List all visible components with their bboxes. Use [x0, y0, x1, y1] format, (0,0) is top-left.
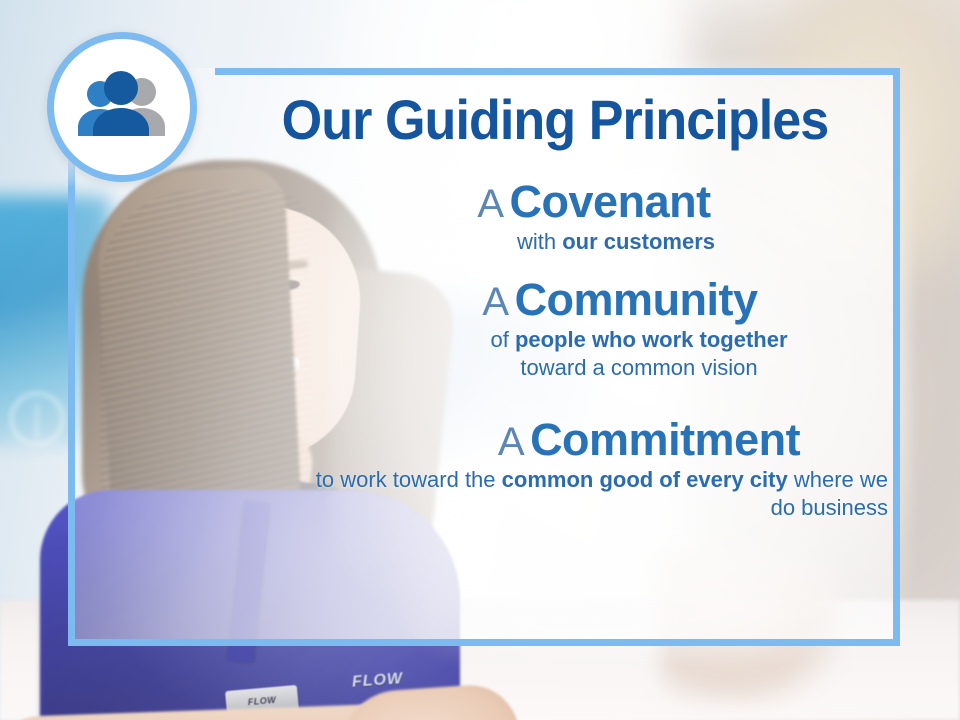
principle-subtext: of people who work togethertoward a comm… — [300, 326, 892, 382]
principle-item: A Community of people who work togethert… — [300, 276, 892, 382]
marketing-banner: FLOW FLOW — [0, 0, 960, 720]
principle-article: A — [498, 420, 526, 464]
principle-title: A Community — [348, 276, 892, 324]
principle-word: Community — [515, 274, 758, 325]
principle-subtext: with our customers — [300, 228, 892, 256]
principle-title: A Covenant — [296, 178, 892, 226]
chest-logo-flow: FLOW — [351, 670, 403, 692]
principle-article: A — [482, 280, 510, 324]
principle-word: Covenant — [510, 176, 711, 227]
principle-subtext: to work toward the common good of every … — [300, 466, 892, 522]
people-group-icon-badge — [47, 32, 197, 182]
principle-article: A — [477, 182, 505, 226]
blurred-customer-hand — [660, 554, 840, 704]
principle-item: A Covenant with our customers — [300, 178, 892, 256]
principle-title: A Commitment — [406, 416, 892, 464]
name-badge-text: FLOW — [247, 695, 276, 707]
principles-list: A Covenant with our customers A Communit… — [300, 178, 892, 536]
principle-word: Commitment — [530, 414, 800, 465]
vw-logo-blurred — [10, 392, 64, 446]
principle-item: A Commitment to work toward the common g… — [300, 416, 892, 522]
people-group-icon — [70, 70, 174, 144]
page-title: Our Guiding Principles — [239, 92, 871, 148]
